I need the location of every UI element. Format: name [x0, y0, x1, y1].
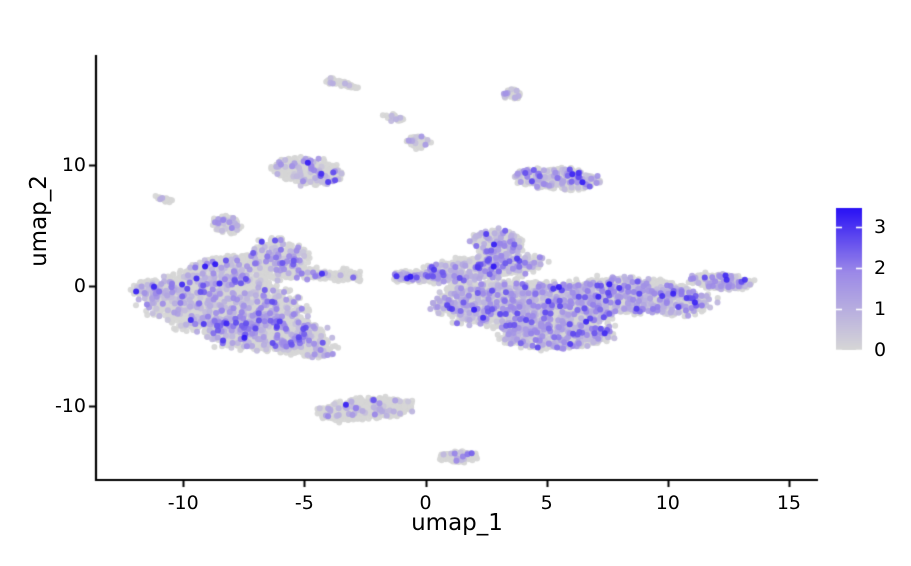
colorbar-tick-label: 1 — [874, 298, 886, 320]
y-axis-label: umap_2 — [26, 96, 52, 346]
x-tick-label: 5 — [541, 492, 553, 514]
x-tick-label: 0 — [419, 492, 431, 514]
scatter-plot-canvas — [0, 0, 911, 562]
y-tick-label: 10 — [44, 154, 86, 176]
x-tick-label: 10 — [656, 492, 680, 514]
colorbar-tick-label: 3 — [874, 216, 886, 238]
colorbar-tick-label: 2 — [874, 257, 886, 279]
plot-canvas-wrap — [0, 0, 911, 566]
x-tick-label: 15 — [777, 492, 801, 514]
x-tick-label: -10 — [168, 492, 199, 514]
colorbar-tick-label: 0 — [874, 339, 886, 361]
umap-figure: Anapc10 umap_1 umap_2 -10-5051015 -10010… — [0, 0, 911, 562]
x-axis-label: umap_1 — [96, 510, 818, 536]
y-tick-label: 0 — [44, 275, 86, 297]
x-tick-label: -5 — [295, 492, 314, 514]
y-tick-label: -10 — [44, 395, 86, 417]
